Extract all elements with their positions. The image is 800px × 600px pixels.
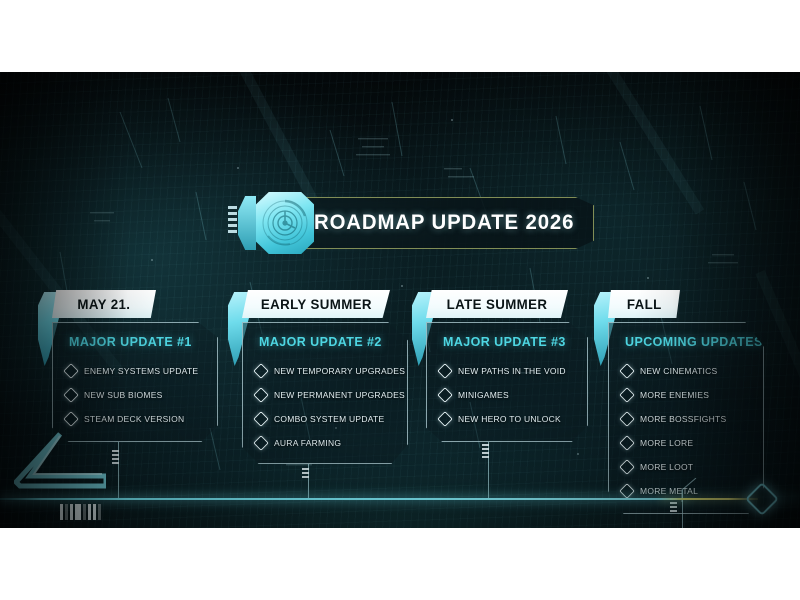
roadmap-graphic: ROADMAP UPDATE 2026 MAY 21. MAJOR UPDATE… [0, 72, 800, 528]
vignette-overlay [0, 72, 800, 528]
